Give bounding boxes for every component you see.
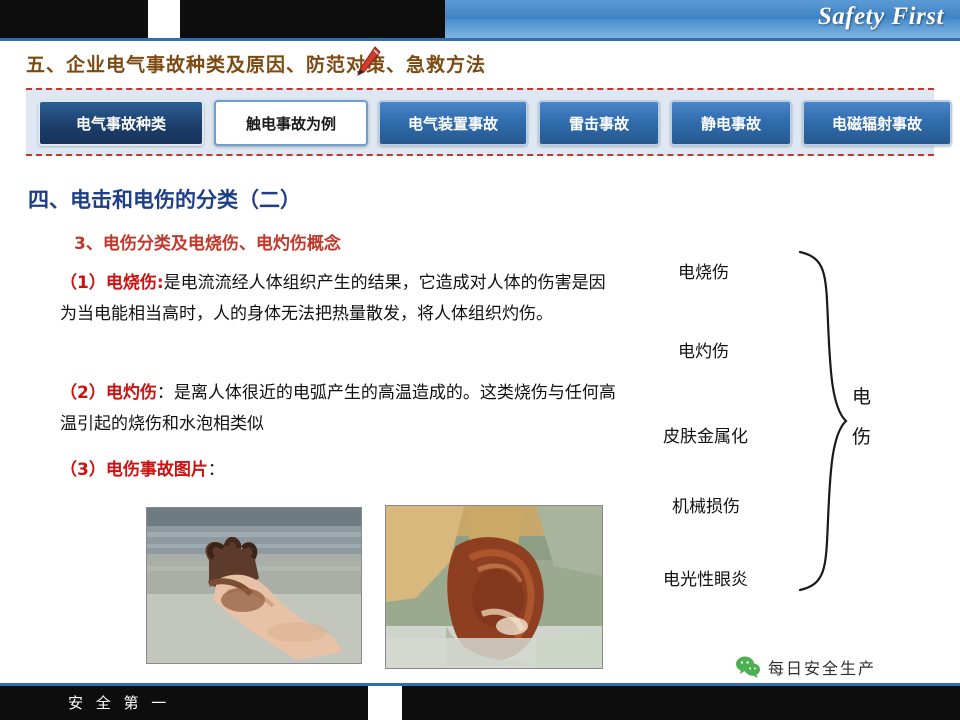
wechat-icon bbox=[735, 655, 761, 679]
photo-torso-injury bbox=[385, 505, 603, 669]
tab-accident-types[interactable]: 电气事故种类 bbox=[38, 100, 204, 146]
header-title: Safety First bbox=[818, 3, 944, 31]
wechat-account-name: 每日安全生产 bbox=[768, 655, 876, 679]
paragraph-electric-burn-label: （1）电烧伤: bbox=[60, 273, 164, 293]
footer-black-block-right bbox=[402, 686, 960, 720]
pen-icon bbox=[355, 46, 381, 76]
right-list-item-4: 电光性眼炎 bbox=[663, 565, 748, 590]
paragraph-photos-label: （3）电伤事故图片： bbox=[60, 455, 460, 486]
right-list-item-0: 电烧伤 bbox=[678, 258, 729, 283]
header-white-gap bbox=[148, 0, 180, 38]
tab-lightning-accident[interactable]: 雷击事故 bbox=[538, 100, 660, 146]
footer-white-gap bbox=[368, 686, 402, 720]
footer-text: 安 全 第 一 bbox=[68, 692, 170, 713]
wechat-badge: 每日安全生产 bbox=[735, 655, 876, 679]
footer-bar: 安 全 第 一 bbox=[0, 686, 960, 720]
photo-hand-injury-image bbox=[147, 508, 361, 663]
paragraph-electric-burn: （1）电烧伤:是电流流经人体组织产生的结果，它造成对人体的伤害是因为当电能相当高… bbox=[60, 268, 620, 330]
right-list-item-3: 机械损伤 bbox=[672, 492, 740, 517]
paragraph-photos-label-red: （3）电伤事故图片 bbox=[60, 460, 208, 480]
brace-label-line1: 电 bbox=[852, 382, 871, 409]
tab-electromagnetic-radiation-accident[interactable]: 电磁辐射事故 bbox=[802, 100, 952, 146]
curly-brace-icon bbox=[790, 248, 850, 594]
right-list-item-2: 皮肤金属化 bbox=[663, 422, 748, 447]
footer-black-block-left bbox=[0, 686, 368, 720]
paragraph-arc-burn-label: （2）电灼伤 bbox=[60, 383, 157, 403]
header-black-block-mid bbox=[180, 0, 445, 38]
right-list-item-1: 电灼伤 bbox=[678, 337, 729, 362]
page-title: 四、电击和电伤的分类（二） bbox=[28, 184, 301, 214]
header-blue-block: Safety First bbox=[445, 0, 960, 38]
slide-root: Safety First 五、企业电气事故种类及原因、防范对策、急救方法 电气事… bbox=[0, 0, 960, 720]
tab-electrical-device-accident[interactable]: 电气装置事故 bbox=[378, 100, 528, 146]
photo-hand-injury bbox=[146, 507, 362, 664]
photo-torso-injury-image bbox=[386, 506, 602, 668]
paragraph-arc-burn: （2）电灼伤：是离人体很近的电弧产生的高温造成的。这类烧伤与任何高温引起的烧伤和… bbox=[60, 378, 620, 440]
header-black-block-left bbox=[0, 0, 148, 38]
header-underline bbox=[0, 38, 960, 41]
subsection-title: 3、电伤分类及电烧伤、电灼伤概念 bbox=[74, 229, 341, 254]
tab-bar: 电气事故种类 触电事故为例 电气装置事故 雷击事故 静电事故 电磁辐射事故 bbox=[26, 88, 934, 156]
section-heading: 五、企业电气事故种类及原因、防范对策、急救方法 bbox=[26, 50, 486, 77]
header-bar: Safety First bbox=[0, 0, 960, 38]
tab-electric-shock-example[interactable]: 触电事故为例 bbox=[214, 100, 368, 146]
paragraph-photos-label-colon: ： bbox=[208, 460, 225, 480]
brace-label-line2: 伤 bbox=[852, 422, 871, 449]
tab-static-electricity-accident[interactable]: 静电事故 bbox=[670, 100, 792, 146]
